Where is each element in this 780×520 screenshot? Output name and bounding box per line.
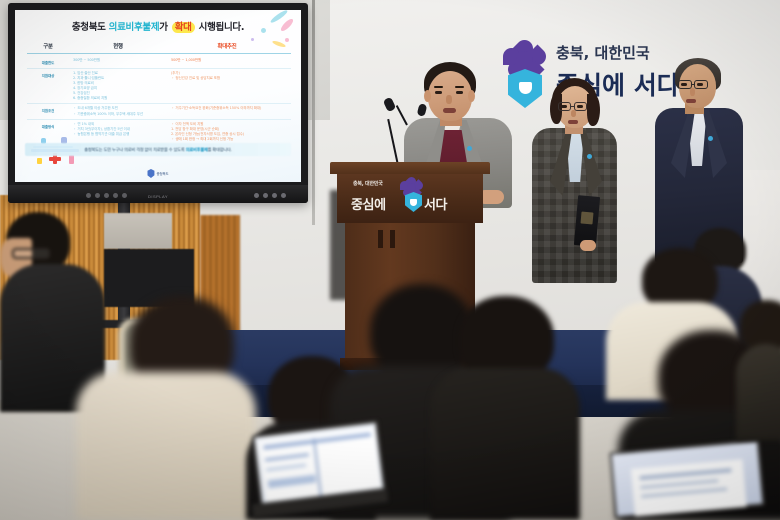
official-2-nose: [690, 88, 695, 96]
audience-member-beige: [76, 296, 256, 520]
audience-torso: [430, 368, 580, 520]
slide-title-highlight: 확대: [172, 22, 195, 33]
audience-laptop-right[interactable]: [612, 446, 772, 520]
display-buttons-left[interactable]: [86, 193, 127, 198]
display-buttons-right[interactable]: [254, 193, 286, 198]
speaker-mouth: [443, 108, 456, 113]
official-1-mouth: [568, 120, 578, 124]
glasses-icon: [694, 80, 708, 89]
laptop-screen[interactable]: [609, 440, 764, 519]
slide-title-part4: 시행됩니다.: [199, 22, 245, 33]
slide-title-part1: 충청북도: [72, 22, 106, 33]
audience-member-right-center: [430, 296, 580, 520]
presentation-slide: 충청북도 의료비후불제가 확대 시행됩니다. 구분 현행 확대추진 대출한도 3…: [15, 10, 301, 182]
audience-torso: [736, 344, 780, 440]
table-cell-expanded: 500만 ~ 1,000만원: [167, 58, 287, 66]
display-screen: 충청북도 의료비후불제가 확대 시행됩니다. 구분 현행 확대추진 대출한도 3…: [15, 10, 301, 182]
press-briefing-photo: 충북, 대한민국 중심에 서다 충청북도 의료비후불제가 확대 시행됩니다.: [0, 0, 780, 520]
podium-slot-left: [378, 230, 383, 248]
audience-torso: [76, 372, 256, 520]
table-cell-expanded: ・ 이자 전액 도비 지원 1. 전담 창구 확대 운영(시군 순회) 2. 온…: [167, 122, 287, 142]
official-1-hair-side-right: [587, 94, 600, 126]
chungbuk-mark-icon: [147, 169, 154, 178]
table-row: 지원조건 ・ 도내 6개월 이상 거주한 도민 ・ 기준중위소득 100% 이하…: [27, 104, 291, 118]
presentation-display: 충청북도 의료비후불제가 확대 시행됩니다. 구분 현행 확대추진 대출한도 3…: [8, 3, 308, 203]
slide-banner-before: 충청북도는 도민 누구나 의료비 걱정 없이 치료받을 수 있도록: [84, 147, 184, 153]
chungbuk-lapel-pin: [708, 136, 713, 141]
table-col-header-1: 현행: [69, 42, 167, 50]
podium-logo: 충북, 대한민국 중심에 서다: [345, 176, 475, 218]
standing-official-woman: [532, 78, 617, 283]
podium-logo-line1: 충북, 대한민국: [353, 180, 383, 187]
podium-logo-line2-left: 중심에: [351, 194, 386, 213]
chungbuk-lapel-pin: [587, 154, 592, 159]
folder-emblem: [580, 211, 593, 224]
speaker-ear-right: [468, 90, 475, 102]
podium-slot-right: [390, 230, 395, 248]
podium-shield-inner-icon: [410, 199, 417, 206]
podium-desktop: [330, 162, 490, 174]
chungbuk-lapel-pin: [467, 146, 472, 151]
speaker-ear-left: [424, 90, 431, 102]
table-cell-label: 지원대상: [27, 71, 69, 101]
display-bezel-bottom: DISPLAY: [8, 185, 308, 203]
slide-footer: 충청북도: [147, 169, 168, 178]
podium-logo-line2-right: 서다: [424, 194, 447, 213]
table-cell-current: 1. 임신·출산 진료 2. 치과·틀니·임플란트 3. 한방 의료비 4. 장…: [69, 71, 167, 101]
table-cell-label: 지원조건: [27, 106, 69, 116]
slide-table: 구분 현행 확대추진 대출한도 300만 ~ 500만원 500만 ~ 1,00…: [27, 42, 291, 144]
slide-title-part3: 가: [159, 22, 167, 33]
speaker-nose: [446, 95, 452, 104]
speaker-brow-right: [455, 86, 464, 88]
table-cell-expanded: (추가) ・ 정신건강 진료 및 상담치료 포함: [167, 71, 287, 101]
official-2-mouth: [686, 99, 696, 103]
slide-banner-after: 를 확대합니다.: [208, 147, 232, 153]
table-cell-label: 대출한도: [27, 58, 69, 66]
slide-banner-highlight: 의료비후불제: [186, 147, 208, 153]
slide-title: 충청북도 의료비후불제가 확대 시행됩니다.: [23, 19, 293, 33]
glasses-icon: [12, 248, 50, 259]
speaker-eye-left: [435, 91, 442, 94]
table-rule: [27, 53, 291, 54]
table-cell-expanded: ・ 거주기간·소득요건 완화(기준중위소득 150% 이하까지 확대): [167, 106, 287, 116]
wall-seam: [312, 0, 315, 225]
table-row: 대출한도 300만 ~ 500만원 500만 ~ 1,000만원: [27, 56, 291, 68]
glasses-bridge-icon: [570, 106, 575, 107]
glasses-bridge-icon: [691, 84, 695, 85]
speaker-brow-left: [434, 86, 443, 88]
speaker-eye-right: [456, 91, 463, 94]
table-row: 지원대상 1. 임신·출산 진료 2. 치과·틀니·임플란트 3. 한방 의료비…: [27, 69, 291, 103]
display-brand-label: DISPLAY: [148, 194, 168, 199]
slide-banner: 충청북도는 도민 누구나 의료비 걱정 없이 치료받을 수 있도록 의료비후불제…: [25, 143, 291, 156]
table-cell-current: 300만 ~ 500만원: [69, 58, 167, 66]
slide-footer-text: 충청북도: [156, 171, 168, 176]
audience-laptop-center[interactable]: [256, 428, 396, 520]
table-col-header-2: 확대추진: [167, 42, 287, 50]
official-1-nose: [571, 110, 576, 117]
glasses-icon: [574, 102, 587, 111]
table-cell-current: ・ 도내 6개월 이상 거주한 도민 ・ 기준중위소득 100% 이하, 무주택…: [69, 106, 167, 116]
table-col-header-0: 구분: [27, 42, 69, 50]
slide-table-header: 구분 현행 확대추진: [27, 42, 291, 50]
audience-member-edge-right: [736, 300, 780, 440]
official-1-hand: [580, 240, 596, 251]
display-stand-shelf: [104, 213, 172, 249]
slide-title-part2: 의료비후불제: [109, 22, 160, 33]
